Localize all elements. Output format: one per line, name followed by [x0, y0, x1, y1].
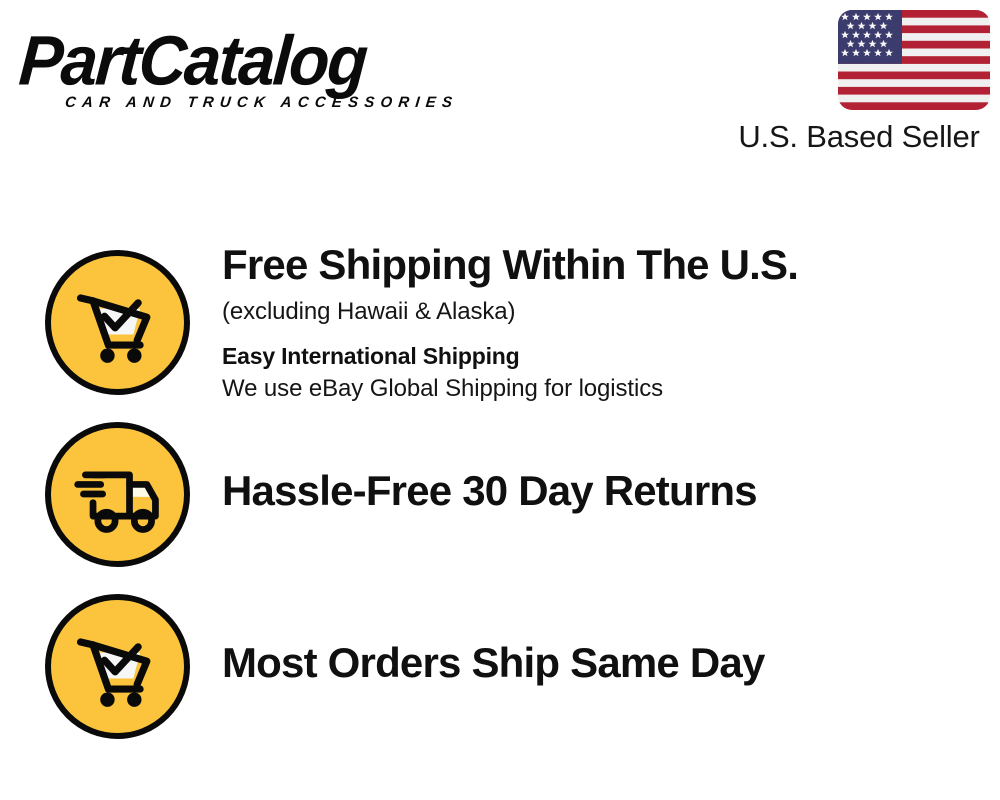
feature-row: Free Shipping Within The U.S. (excluding…: [0, 232, 1000, 402]
shopping-cart-check-icon: [45, 250, 190, 395]
feature-subtext-logistics: We use eBay Global Shipping for logistic…: [222, 373, 962, 405]
feature-subtext-international-heading: Easy International Shipping: [222, 340, 962, 372]
feature-heading: Free Shipping Within The U.S.: [222, 240, 962, 290]
us-flag-icon: [838, 10, 990, 110]
feature-text-block: Hassle-Free 30 Day Returns: [222, 466, 962, 516]
feature-text-block: Free Shipping Within The U.S. (excluding…: [222, 240, 962, 405]
feature-row: Hassle-Free 30 Day Returns: [0, 404, 1000, 576]
brand-tagline: CAR AND TRUCK ACCESSORIES: [64, 94, 459, 111]
brand-wordmark: PartCatalog: [17, 24, 492, 96]
brand-logo[interactable]: PartCatalog CAR AND TRUCK ACCESSORIES: [22, 24, 492, 116]
feature-row: Most Orders Ship Same Day: [0, 576, 1000, 746]
feature-text-block: Most Orders Ship Same Day: [222, 638, 962, 688]
us-based-seller-label: U.S. Based Seller: [726, 118, 992, 156]
shopping-cart-check-icon: [45, 594, 190, 739]
delivery-truck-icon: [45, 422, 190, 567]
feature-heading: Most Orders Ship Same Day: [222, 638, 962, 688]
page-header: PartCatalog CAR AND TRUCK ACCESSORIES: [0, 0, 1000, 175]
feature-heading: Hassle-Free 30 Day Returns: [222, 466, 962, 516]
feature-subtext-exclusion: (excluding Hawaii & Alaska): [222, 296, 962, 328]
